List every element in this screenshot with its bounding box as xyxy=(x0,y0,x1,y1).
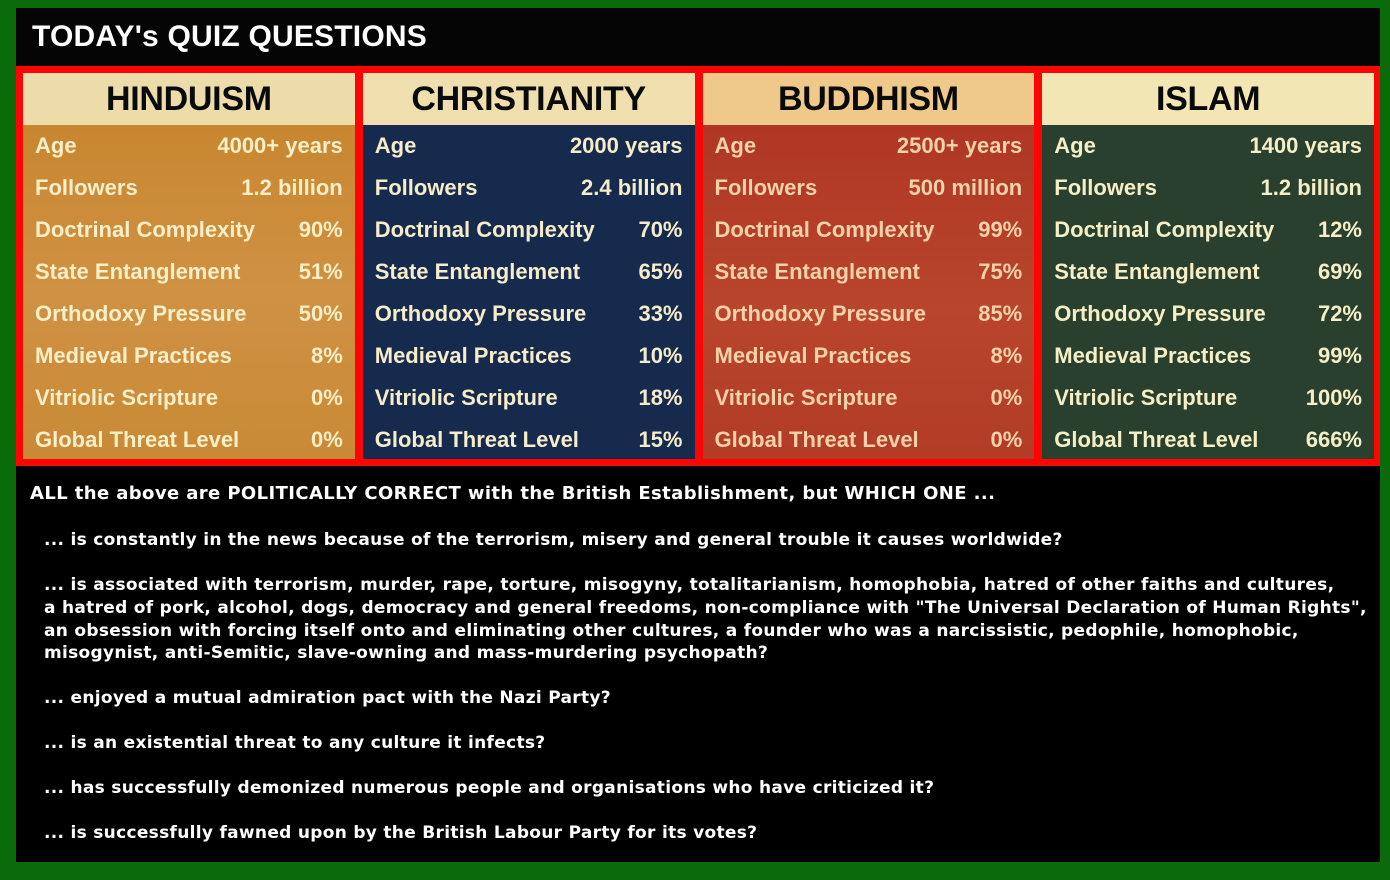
stat-label: Medieval Practices xyxy=(35,345,240,367)
stat-value: 0% xyxy=(311,387,343,409)
stat-row: Vitriolic Scripture 0% xyxy=(35,387,343,409)
religion-card-hinduism: HINDUISM Age 4000+ years Followers 1.2 b… xyxy=(23,73,355,459)
stat-label: Orthodoxy Pressure xyxy=(715,303,935,325)
stat-label: Vitriolic Scripture xyxy=(1054,387,1245,409)
quiz-item: ... is successfully fawned upon by the B… xyxy=(44,822,1368,845)
stat-value: 18% xyxy=(638,387,682,409)
stat-label: State Entanglement xyxy=(1054,261,1267,283)
stat-row: Followers 2.4 billion xyxy=(375,177,683,199)
quiz-line: ... is successfully fawned upon by the B… xyxy=(44,822,1368,845)
stat-row: Doctrinal Complexity 70% xyxy=(375,219,683,241)
stat-row: Global Threat Level 666% xyxy=(1054,429,1362,451)
quiz-line: misogynist, anti-Semitic, slave-owning a… xyxy=(44,642,1368,665)
stat-label: Medieval Practices xyxy=(1054,345,1259,367)
stat-label: Vitriolic Scripture xyxy=(715,387,906,409)
stat-label: Followers xyxy=(715,177,826,199)
stat-label: Followers xyxy=(375,177,486,199)
stat-label: Followers xyxy=(1054,177,1165,199)
stat-value: 500 million xyxy=(909,177,1023,199)
stat-row: Vitriolic Scripture 18% xyxy=(375,387,683,409)
stat-row: Followers 500 million xyxy=(715,177,1023,199)
stat-label: Global Threat Level xyxy=(715,429,927,451)
stat-value: 65% xyxy=(638,261,682,283)
stat-value: 70% xyxy=(638,219,682,241)
card-header-buddhism: BUDDHISM xyxy=(703,73,1035,125)
stat-label: Global Threat Level xyxy=(375,429,587,451)
stat-row: Orthodoxy Pressure 33% xyxy=(375,303,683,325)
stat-value: 85% xyxy=(978,303,1022,325)
quiz-line: ... is associated with terrorism, murder… xyxy=(44,574,1368,597)
card-body-hinduism: Age 4000+ years Followers 1.2 billion Do… xyxy=(23,125,355,459)
stat-label: Orthodoxy Pressure xyxy=(1054,303,1274,325)
quiz-item: ... has successfully demonized numerous … xyxy=(44,777,1368,800)
religion-cards-strip: HINDUISM Age 4000+ years Followers 1.2 b… xyxy=(16,66,1380,466)
stat-row: Medieval Practices 8% xyxy=(715,345,1023,367)
stat-row: State Entanglement 75% xyxy=(715,261,1023,283)
poster-inner: TODAY's QUIZ QUESTIONS HINDUISM Age 4000… xyxy=(16,8,1380,862)
quiz-line: ... enjoyed a mutual admiration pact wit… xyxy=(44,687,1368,710)
card-body-christianity: Age 2000 years Followers 2.4 billion Doc… xyxy=(363,125,695,459)
stat-row: Global Threat Level 0% xyxy=(35,429,343,451)
stat-value: 51% xyxy=(299,261,343,283)
stat-value: 0% xyxy=(311,429,343,451)
stat-row: State Entanglement 51% xyxy=(35,261,343,283)
stat-value: 99% xyxy=(978,219,1022,241)
stat-row: Followers 1.2 billion xyxy=(1054,177,1362,199)
stat-label: Age xyxy=(375,135,425,157)
stat-row: Doctrinal Complexity 99% xyxy=(715,219,1023,241)
stat-value: 0% xyxy=(990,429,1022,451)
stat-value: 69% xyxy=(1318,261,1362,283)
stat-label: Global Threat Level xyxy=(35,429,247,451)
stat-label: Doctrinal Complexity xyxy=(715,219,943,241)
stat-value: 0% xyxy=(990,387,1022,409)
stat-label: Vitriolic Scripture xyxy=(375,387,566,409)
stat-value: 2000 years xyxy=(570,135,683,157)
stat-value: 8% xyxy=(311,345,343,367)
stat-value: 8% xyxy=(990,345,1022,367)
title-bar: TODAY's QUIZ QUESTIONS xyxy=(16,8,1380,66)
stat-row: Doctrinal Complexity 90% xyxy=(35,219,343,241)
stat-label: State Entanglement xyxy=(375,261,588,283)
card-title-hinduism: HINDUISM xyxy=(106,80,272,119)
stat-label: Orthodoxy Pressure xyxy=(35,303,255,325)
stat-value: 1.2 billion xyxy=(1261,177,1362,199)
stat-label: State Entanglement xyxy=(35,261,248,283)
stat-label: Medieval Practices xyxy=(375,345,580,367)
quiz-line: an obsession with forcing itself onto an… xyxy=(44,620,1368,643)
stat-row: Vitriolic Scripture 100% xyxy=(1054,387,1362,409)
quiz-line: ... has successfully demonized numerous … xyxy=(44,777,1368,800)
stat-label: Vitriolic Scripture xyxy=(35,387,226,409)
poster-frame: TODAY's QUIZ QUESTIONS HINDUISM Age 4000… xyxy=(0,0,1390,880)
stat-value: 100% xyxy=(1306,387,1362,409)
stat-row: State Entanglement 69% xyxy=(1054,261,1362,283)
quiz-line: ... is an existential threat to any cult… xyxy=(44,732,1368,755)
stat-row: Medieval Practices 8% xyxy=(35,345,343,367)
stat-label: Medieval Practices xyxy=(715,345,920,367)
quiz-item: ... is an existential threat to any cult… xyxy=(44,732,1368,755)
religion-card-buddhism: BUDDHISM Age 2500+ years Followers 500 m… xyxy=(703,73,1035,459)
stat-value: 666% xyxy=(1306,429,1362,451)
stat-label: Age xyxy=(35,135,85,157)
stat-value: 33% xyxy=(638,303,682,325)
stat-value: 2.4 billion xyxy=(581,177,682,199)
card-title-buddhism: BUDDHISM xyxy=(778,80,959,119)
stat-value: 75% xyxy=(978,261,1022,283)
stat-label: Global Threat Level xyxy=(1054,429,1266,451)
quiz-line: ... is constantly in the news because of… xyxy=(44,529,1368,552)
stat-label: Followers xyxy=(35,177,146,199)
stat-value: 15% xyxy=(638,429,682,451)
stat-label: Orthodoxy Pressure xyxy=(375,303,595,325)
stat-row: Followers 1.2 billion xyxy=(35,177,343,199)
stat-value: 90% xyxy=(299,219,343,241)
card-header-hinduism: HINDUISM xyxy=(23,73,355,125)
card-body-islam: Age 1400 years Followers 1.2 billion Doc… xyxy=(1042,125,1374,459)
quiz-line: a hatred of pork, alcohol, dogs, democra… xyxy=(44,597,1368,620)
stat-row: Global Threat Level 15% xyxy=(375,429,683,451)
stat-label: Doctrinal Complexity xyxy=(375,219,603,241)
stat-value: 12% xyxy=(1318,219,1362,241)
stat-value: 1400 years xyxy=(1249,135,1362,157)
stat-value: 1.2 billion xyxy=(241,177,342,199)
stat-row: Orthodoxy Pressure 50% xyxy=(35,303,343,325)
stat-label: Age xyxy=(715,135,765,157)
stat-row: Medieval Practices 10% xyxy=(375,345,683,367)
quiz-lead-line: ALL the above are POLITICALLY CORRECT wi… xyxy=(30,484,1368,505)
stat-label: Doctrinal Complexity xyxy=(1054,219,1282,241)
page-title: TODAY's QUIZ QUESTIONS xyxy=(32,20,427,54)
stat-label: Doctrinal Complexity xyxy=(35,219,263,241)
stat-value: 2500+ years xyxy=(897,135,1022,157)
card-title-islam: ISLAM xyxy=(1156,80,1260,119)
stat-row: Age 1400 years xyxy=(1054,135,1362,157)
stat-row: Doctrinal Complexity 12% xyxy=(1054,219,1362,241)
stat-value: 72% xyxy=(1318,303,1362,325)
stat-label: State Entanglement xyxy=(715,261,928,283)
stat-row: State Entanglement 65% xyxy=(375,261,683,283)
stat-value: 50% xyxy=(299,303,343,325)
stat-row: Vitriolic Scripture 0% xyxy=(715,387,1023,409)
quiz-item: ... enjoyed a mutual admiration pact wit… xyxy=(44,687,1368,710)
quiz-item: ... is constantly in the news because of… xyxy=(44,529,1368,552)
stat-row: Medieval Practices 99% xyxy=(1054,345,1362,367)
stat-row: Orthodoxy Pressure 72% xyxy=(1054,303,1362,325)
stat-value: 99% xyxy=(1318,345,1362,367)
religion-card-islam: ISLAM Age 1400 years Followers 1.2 billi… xyxy=(1042,73,1374,459)
card-header-islam: ISLAM xyxy=(1042,73,1374,125)
stat-row: Age 2500+ years xyxy=(715,135,1023,157)
card-body-buddhism: Age 2500+ years Followers 500 million Do… xyxy=(703,125,1035,459)
stat-value: 4000+ years xyxy=(217,135,342,157)
stat-row: Global Threat Level 0% xyxy=(715,429,1023,451)
stat-value: 10% xyxy=(638,345,682,367)
stat-row: Age 2000 years xyxy=(375,135,683,157)
stat-label: Age xyxy=(1054,135,1104,157)
stat-row: Orthodoxy Pressure 85% xyxy=(715,303,1023,325)
religion-card-christianity: CHRISTIANITY Age 2000 years Followers 2.… xyxy=(363,73,695,459)
quiz-item: ... is associated with terrorism, murder… xyxy=(44,574,1368,666)
quiz-text-panel: ALL the above are POLITICALLY CORRECT wi… xyxy=(16,466,1380,862)
card-header-christianity: CHRISTIANITY xyxy=(363,73,695,125)
stat-row: Age 4000+ years xyxy=(35,135,343,157)
card-title-christianity: CHRISTIANITY xyxy=(411,80,645,119)
